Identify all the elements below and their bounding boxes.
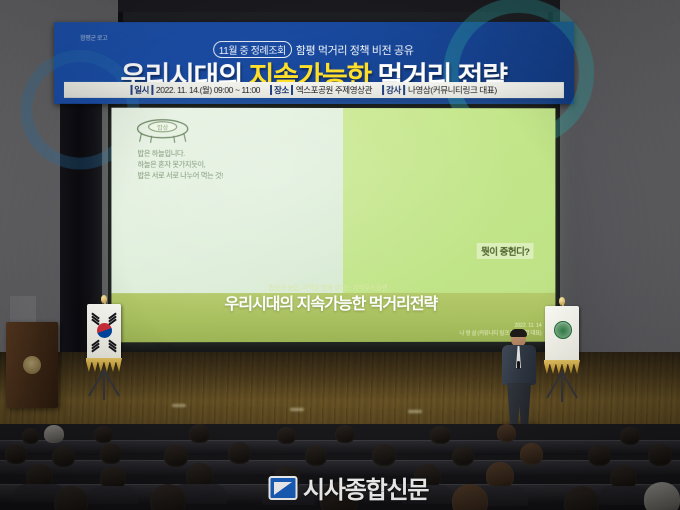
stage-floor-light	[172, 404, 186, 407]
svg-text:밥상: 밥상	[157, 124, 169, 132]
banner-info-key-speaker: 강사	[382, 85, 405, 95]
audience-head	[164, 445, 188, 467]
audience-head	[22, 428, 39, 444]
audience-head	[189, 424, 210, 443]
audience-head	[44, 425, 64, 443]
slide-title: 우리시대의 지속가능한 먹거리전략	[111, 290, 549, 314]
slide-footer-date: 2022. 11. 14	[459, 322, 541, 330]
audience-head	[372, 444, 396, 466]
audience-head	[520, 443, 543, 465]
newspaper-icon	[268, 473, 298, 503]
audience-head	[430, 426, 451, 444]
audience-head	[486, 462, 514, 489]
slide-quote: 밥은 하늘입니다. 하늘은 혼자 못가지듯이, 밥은 서로 서로 나누어 먹는 …	[138, 148, 223, 182]
slide-quote-line3: 밥은 서로 서로 나누어 먹는 것!	[138, 170, 223, 181]
audience-head	[94, 426, 113, 443]
slide-quote-line2: 하늘은 혼자 못가지듯이,	[138, 159, 223, 170]
audience-head	[452, 446, 474, 466]
watermark-text: 시사종합신문	[303, 470, 428, 505]
slide-logo-icon: 밥상	[132, 116, 194, 144]
audience-head	[305, 445, 327, 466]
slide-badge: 뭣이 중헌디?	[477, 243, 533, 259]
stage-floor-light	[290, 408, 304, 411]
speaker-hair	[510, 329, 527, 337]
event-banner: 함평군 로고 11월 중 정례조회함평 먹거리 정책 비전 공유 우리시대의 지…	[54, 22, 574, 104]
flag-tripod	[540, 372, 584, 402]
photo-canvas: 함평군 로고 11월 중 정례조회함평 먹거리 정책 비전 공유 우리시대의 지…	[0, 0, 680, 510]
tripod-leg	[103, 370, 120, 397]
banner-info-item-speaker: 강사나영삼(커뮤니티링크 대표)	[382, 84, 497, 96]
projection-screen: 밥상 밥은 하늘입니다. 하늘은 혼자 못가지듯이, 밥은 서로 서로 나누어 …	[111, 108, 555, 343]
audience-head	[588, 445, 611, 466]
audience-head	[644, 482, 680, 510]
audience-head	[100, 443, 122, 464]
audience-head	[452, 484, 488, 510]
speaker-figure	[498, 330, 540, 430]
flag-cloth-korean	[87, 304, 121, 362]
audience-head	[54, 486, 88, 510]
tripod-leg	[561, 372, 578, 399]
audience-head	[335, 425, 355, 443]
audience-head	[277, 427, 296, 444]
banner-info-key-datetime: 일시	[130, 85, 153, 95]
podium-emblem	[23, 356, 41, 374]
banner-info-key-venue: 장소	[270, 85, 293, 95]
stage-floor-light	[408, 410, 422, 413]
audience-head	[228, 442, 251, 464]
handheld-microphone-icon	[517, 361, 520, 369]
speaker-trousers	[507, 383, 531, 427]
audience-head	[52, 446, 75, 467]
audience-shoulders	[88, 486, 138, 504]
podium	[6, 322, 58, 408]
flag-tripod	[82, 370, 126, 400]
banner-info-value-venue: 엑스포공원 주제영상관	[296, 85, 372, 95]
banner-info-item-venue: 장소엑스포공원 주제영상관	[270, 84, 372, 96]
banner-info-item-datetime: 일시2022. 11. 14.(월) 09:00 ~ 11:00	[130, 84, 260, 96]
audience-head	[648, 444, 672, 466]
flag-organization	[540, 302, 584, 410]
slide-right-panel	[343, 108, 556, 293]
slide-quote-line1: 밥은 하늘입니다.	[138, 148, 223, 159]
watermark: 시사종합신문	[268, 470, 428, 505]
organization-emblem-icon	[554, 321, 572, 339]
flag-korean-national	[82, 300, 126, 408]
flag-cloth-organization	[545, 306, 579, 364]
audience-head	[620, 427, 640, 445]
audience-head	[5, 444, 27, 464]
audience-head	[150, 484, 186, 510]
audience-shoulders	[598, 486, 650, 505]
banner-info-value-speaker: 나영삼(커뮤니티링크 대표)	[408, 85, 497, 95]
banner-info-bar: 일시2022. 11. 14.(월) 09:00 ~ 11:00 장소엑스포공원…	[64, 82, 564, 98]
banner-info-value-datetime: 2022. 11. 14.(월) 09:00 ~ 11:00	[156, 85, 260, 95]
audience-head	[497, 424, 516, 442]
